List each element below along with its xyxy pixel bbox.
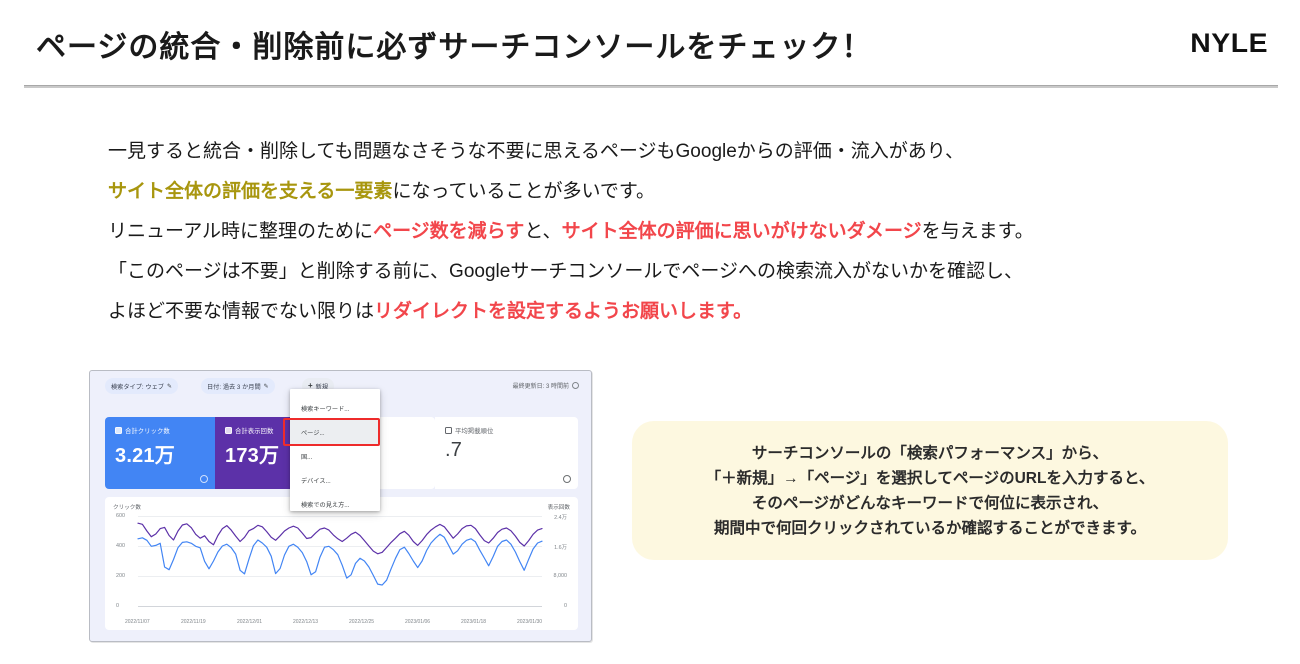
performance-chart: クリック数 表示回数 600 400 200 0 2.4万 1.6万 8,000… — [105, 497, 578, 630]
chart-line-clicks — [138, 534, 542, 585]
copy-line-1: 一見すると統合・削除しても問題なさそうな不要に思えるページもGoogleからの評… — [108, 132, 1228, 172]
menu-item-device[interactable]: デバイス... — [290, 468, 380, 492]
chart-xtick: 2023/01/30 — [517, 619, 542, 625]
chart-xtick: 2023/01/06 — [405, 619, 430, 625]
copy-line-5-highlight: リダイレクトを設定するようお願いします。 — [374, 301, 752, 322]
metric-label-text: 平均掲載順位 — [455, 426, 493, 435]
help-icon[interactable] — [200, 475, 208, 483]
checkbox-icon[interactable] — [115, 427, 122, 434]
search-console-screenshot: 検索タイプ: ウェブ ✎ 日付: 過去 3 か月間 ✎ + 新規 最終更新日: … — [89, 370, 592, 642]
copy-line-2-highlight: サイト全体の評価を支える一要素 — [108, 181, 392, 202]
copy-line-3-highlight-b: サイト全体の評価に思いがけないダメージ — [562, 221, 922, 242]
help-icon[interactable] — [563, 475, 571, 483]
new-filter-dropdown-menu[interactable]: 検索キーワード... ページ... 国... デバイス... 検索での見え方..… — [290, 389, 380, 511]
chart-xtick: 2022/12/01 — [237, 619, 262, 625]
menu-item-search-query[interactable]: 検索キーワード... — [290, 396, 380, 420]
pencil-icon[interactable]: ✎ — [264, 383, 269, 390]
copy-line-5-text: よほど不要な情報でない限りは — [108, 301, 374, 322]
copy-line-5: よほど不要な情報でない限りはリダイレクトを設定するようお願いします。 — [108, 292, 1228, 332]
filter-chip-search-type-label: 検索タイプ: ウェブ — [111, 382, 164, 391]
callout-line-4: 期間中で何回クリックされているか確認することができます。 — [714, 516, 1146, 541]
copy-line-4: 「このページは不要」と削除する前に、Googleサーチコンソールでページへの検索… — [108, 252, 1228, 292]
chart-line-impressions — [138, 523, 542, 554]
metric-tile-total-clicks-value: 3.21万 — [115, 439, 205, 468]
chart-xtick: 2022/12/13 — [293, 619, 318, 625]
chart-xtick: 2022/11/07 — [125, 619, 150, 625]
metric-tile-average-position-value: .7 — [445, 439, 568, 462]
nyle-logo: NYLE — [1190, 28, 1268, 59]
copy-line-2: サイト全体の評価を支える一要素になっていることが多いです。 — [108, 172, 1228, 212]
chart-xtick: 2022/12/25 — [349, 619, 374, 625]
callout-box: サーチコンソールの「検索パフォーマンス」から、 「＋新規」→「ページ」を選択して… — [632, 421, 1228, 560]
last-update-status: 最終更新日: 3 時間前 — [513, 381, 579, 390]
chart-xtick: 2022/11/19 — [181, 619, 206, 625]
metric-label-text: 合計クリック数 — [125, 426, 170, 435]
page-title: ページの統合・削除前に必ずサーチコンソールをチェック！ — [36, 22, 872, 66]
callout-line-2: 「＋新規」→「ページ」を選択してページのURLを入力すると、 — [706, 466, 1155, 491]
callout-line-1: サーチコンソールの「検索パフォーマンス」から、 — [752, 441, 1108, 466]
menu-item-country[interactable]: 国... — [290, 444, 380, 468]
chart-plot-area — [105, 497, 578, 630]
metric-tile-average-position-label: 平均掲載順位 — [445, 426, 568, 435]
copy-line-3-text-c: を与えます。 — [922, 221, 1034, 242]
header-divider — [24, 85, 1278, 88]
slide-root: ページの統合・削除前に必ずサーチコンソールをチェック！ NYLE 一見すると統合… — [0, 0, 1300, 664]
copy-line-3-text-a: リニューアル時に整理のために — [108, 221, 373, 242]
slide-header: ページの統合・削除前に必ずサーチコンソールをチェック！ NYLE — [0, 0, 1300, 92]
help-icon[interactable] — [572, 382, 579, 389]
chart-xtick: 2023/01/18 — [461, 619, 486, 625]
menu-item-search-appearance[interactable]: 検索での見え方... — [290, 492, 380, 516]
metric-tile-average-position[interactable]: 平均掲載順位 .7 — [435, 417, 578, 489]
callout-line-3: そのページがどんなキーワードで何位に表示され、 — [752, 491, 1108, 516]
checkbox-icon[interactable] — [225, 427, 232, 434]
page-menu-item-highlight-box — [283, 418, 380, 446]
filter-chip-search-type[interactable]: 検索タイプ: ウェブ ✎ — [105, 378, 178, 394]
copy-line-4-text: 「このページは不要」と削除する前に、Googleサーチコンソールでページへの検索… — [108, 261, 1023, 282]
last-update-label: 最終更新日: 3 時間前 — [513, 381, 569, 390]
filter-chip-date-label: 日付: 過去 3 か月間 — [207, 382, 261, 391]
metric-tile-total-clicks-label: 合計クリック数 — [115, 426, 205, 435]
copy-line-3-highlight-a: ページ数を減らす — [373, 221, 524, 242]
metric-tile-total-clicks[interactable]: 合計クリック数 3.21万 — [105, 417, 215, 489]
copy-line-1-text: 一見すると統合・削除しても問題なさそうな不要に思えるページもGoogleからの評… — [108, 141, 964, 162]
copy-line-3: リニューアル時に整理のためにページ数を減らすと、サイト全体の評価に思いがけないダ… — [108, 212, 1228, 252]
pencil-icon[interactable]: ✎ — [167, 383, 172, 390]
checkbox-icon[interactable] — [445, 427, 452, 434]
metric-label-text: 合計表示回数 — [235, 426, 273, 435]
body-copy: 一見すると統合・削除しても問題なさそうな不要に思えるページもGoogleからの評… — [108, 132, 1228, 332]
filter-chip-date[interactable]: 日付: 過去 3 か月間 ✎ — [201, 378, 275, 394]
copy-line-2-text: になっていることが多いです。 — [392, 181, 655, 202]
copy-line-3-text-b: と、 — [524, 221, 561, 242]
